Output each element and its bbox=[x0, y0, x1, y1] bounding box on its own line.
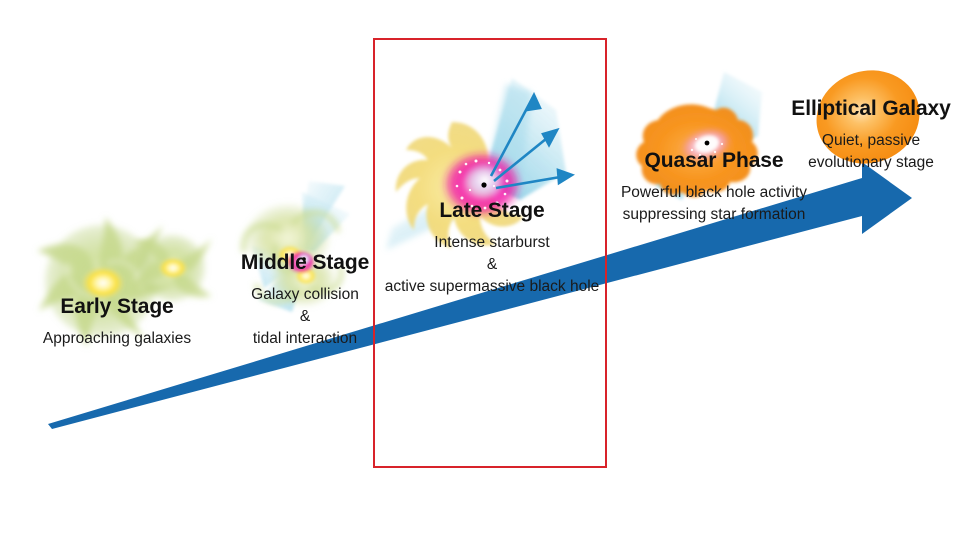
stage-title-elliptical: Elliptical Galaxy bbox=[780, 98, 960, 119]
stage-label-early: Early Stage Approaching galaxies bbox=[12, 296, 222, 350]
black-hole-dot-quasar bbox=[705, 141, 710, 146]
figure-canvas: Early Stage Approaching galaxies Middle … bbox=[0, 0, 960, 540]
stage-label-late: Late Stage Intense starburst & active su… bbox=[378, 200, 606, 298]
stage-title-early: Early Stage bbox=[12, 296, 222, 317]
stage-description-early: Approaching galaxies bbox=[12, 328, 222, 350]
stage-description-quasar: Powerful black hole activity suppressing… bbox=[600, 182, 828, 226]
stage-title-late: Late Stage bbox=[378, 200, 606, 221]
stage-description-late: Intense starburst & active supermassive … bbox=[378, 232, 606, 298]
stage-label-elliptical: Elliptical Galaxy Quiet, passive evoluti… bbox=[780, 98, 960, 174]
stage-description-elliptical: Quiet, passive evolutionary stage bbox=[780, 130, 960, 174]
